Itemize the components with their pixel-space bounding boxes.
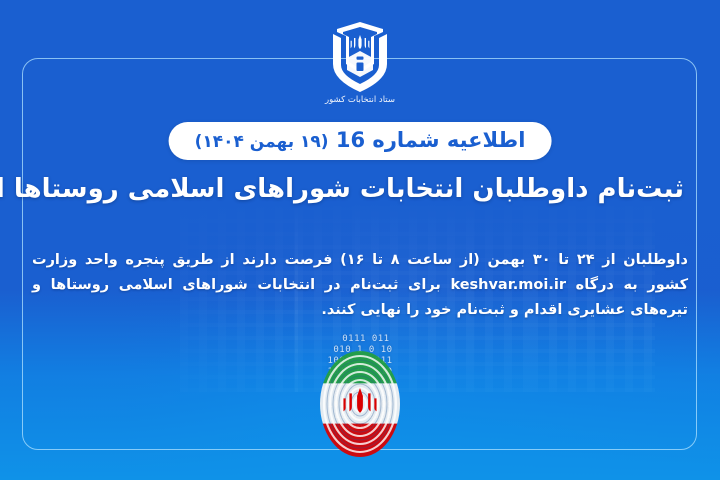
announcement-poster: ستاد انتخابات کشور اطلاعیه شماره 16 (۱۹ …: [0, 0, 720, 480]
logo-caption: ستاد انتخابات کشور: [325, 95, 395, 105]
election-headquarters-shield-emblem-icon: [329, 20, 391, 94]
announcement-number-badge: اطلاعیه شماره 16 (۱۹ بهمن ۱۴۰۴): [169, 122, 552, 160]
registration-portal-url: keshvar.moi.ir: [450, 273, 566, 298]
badge-prefix-label: اطلاعیه شماره: [372, 128, 525, 152]
fingerprint-iran-flag-emblem-icon: 0111 011 010 1 0 10 1001 011 101 01 10 1…: [285, 334, 435, 474]
announcement-body-text: داوطلبان از ۲۴ تا ۳۰ بهمن (از ساعت ۸ تا …: [32, 248, 688, 323]
badge-number: 16: [336, 128, 365, 152]
page-title: ثبت‌نام داوطلبان انتخابات شوراهای اسلامی…: [36, 172, 684, 206]
badge-date: (۱۹ بهمن ۱۴۰۴): [195, 132, 329, 152]
election-headquarters-logo: ستاد انتخابات کشور: [301, 20, 419, 116]
